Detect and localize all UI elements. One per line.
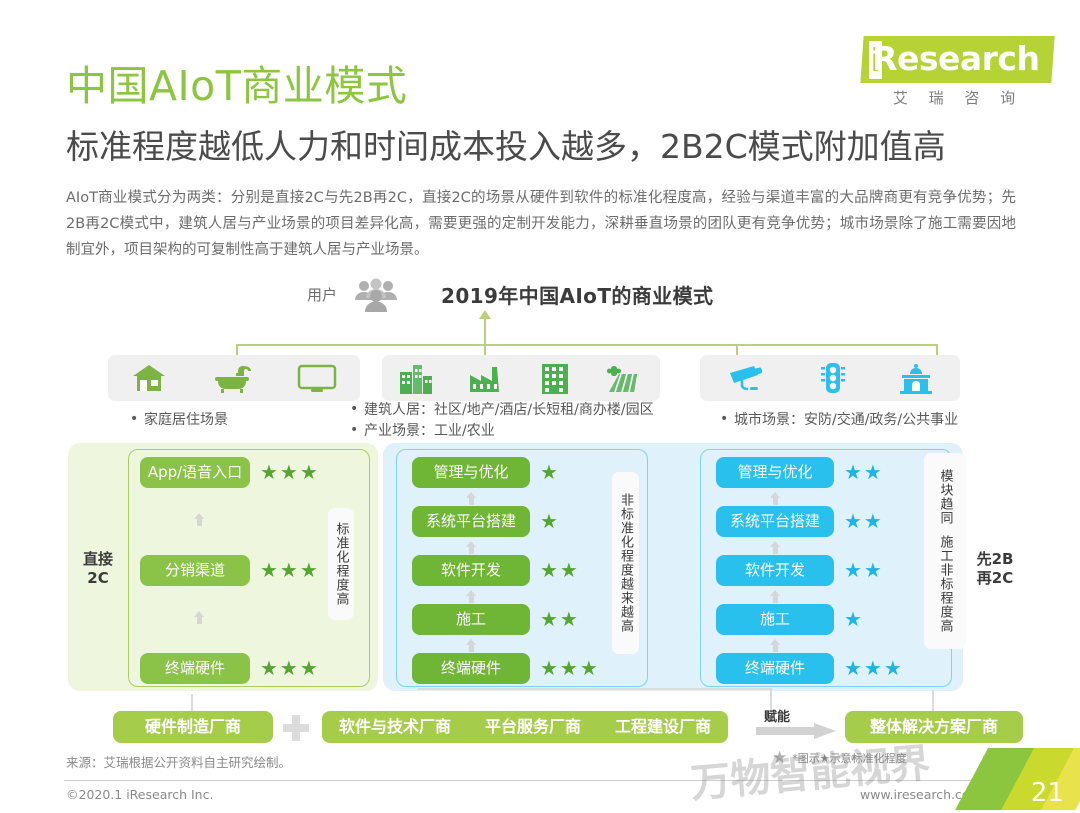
connector-solution-vendor [932, 690, 934, 712]
house-icon [131, 363, 167, 393]
iresearch-logo: i Research 艾 瑞 咨 询 [858, 36, 1058, 108]
star-rating: ★ [540, 463, 560, 483]
vendor-software[interactable]: 软件与技术厂商 [339, 711, 451, 743]
star-rating: ★★ [844, 561, 884, 581]
star-icon: ★ [772, 748, 787, 768]
government-building-icon [898, 362, 934, 394]
row-direct-2c-1[interactable]: App/语音入口 ★★★ [140, 457, 320, 488]
summary-paragraph: AIoT商业模式分为两类：分别是直接2C与先2B再2C，直接2C的场景从硬件到软… [66, 185, 1016, 263]
chip-label[interactable]: App/语音入口 [140, 457, 250, 488]
label-line-2: 再2C [965, 569, 1025, 588]
star-rating: ★★★ [260, 659, 320, 679]
row-direct-2c-2[interactable]: 分销渠道 ★★★ [140, 555, 320, 586]
farmland-icon [605, 362, 643, 394]
row-blue-1[interactable]: 管理与优化 ★★ [716, 457, 884, 488]
tv-icon [297, 363, 337, 393]
chip-label[interactable]: 终端硬件 [140, 653, 250, 684]
logo-mark: i Research [861, 36, 1056, 83]
label-line-1: 先2B [965, 550, 1025, 569]
note-module-convergence: 模块趋同 施工非标程度高 [924, 453, 966, 649]
vendor-middle-group[interactable]: 软件与技术厂商 平台服务厂商 工程建设厂商 [322, 711, 728, 743]
scene-icons-city [700, 355, 960, 401]
list-item: 家庭居住场景 [128, 410, 228, 431]
label-direct-2c: 直接 2C [72, 550, 124, 588]
label-2b-then-2c: 先2B 再2C [965, 550, 1025, 588]
row-blue-3[interactable]: 软件开发 ★★ [716, 555, 884, 586]
flow-arrow-up [770, 492, 781, 505]
chip-label[interactable]: 软件开发 [412, 555, 530, 586]
row-green-2[interactable]: 系统平台搭建 ★ [412, 506, 560, 537]
connector-tree [100, 318, 980, 360]
slide-page: i Research 艾 瑞 咨 询 中国AIoT商业模式 标准程度越低人力和时… [0, 0, 1080, 810]
city-buildings-icon [399, 362, 433, 394]
flow-arrow-up [466, 541, 477, 554]
row-green-3[interactable]: 软件开发 ★★ [412, 555, 580, 586]
flow-arrow-up [466, 639, 477, 652]
legend-note: ★ *图示★示意标准化程度 [772, 748, 907, 768]
chip-label[interactable]: 管理与优化 [412, 457, 530, 488]
scene-bullets-city: 城市场景：安防/交通/政务/公共事业 [718, 410, 958, 431]
page-subtitle: 标准程度越低人力和时间成本投入越多，2B2C模式附加值高 [66, 120, 946, 168]
source-note: 来源：艾瑞根据公开资料自主研究绘制。 [66, 752, 291, 771]
star-rating: ★ [844, 610, 864, 630]
flow-arrow-up [770, 541, 781, 554]
page-number: 21 [1031, 778, 1064, 808]
tree-horizontal-bar [236, 344, 936, 346]
connector-middle-vendors [418, 688, 772, 712]
chip-label[interactable]: 终端硬件 [716, 653, 834, 684]
vendor-total-solution[interactable]: 整体解决方案厂商 [845, 711, 1023, 743]
list-item: 建筑人居：社区/地产/酒店/长短租/商办楼/园区 [348, 400, 654, 421]
note-line-a: 模块趋同 [937, 469, 954, 525]
chip-label[interactable]: 系统平台搭建 [716, 506, 834, 537]
star-rating: ★★★ [260, 561, 320, 581]
scene-icons-home [108, 355, 360, 401]
flow-arrow-up [466, 590, 477, 603]
users-label: 用户 [307, 284, 337, 305]
copyright: ©2020.1 iResearch Inc. [66, 787, 213, 802]
chip-label[interactable]: 终端硬件 [412, 653, 530, 684]
chip-label[interactable]: 分销渠道 [140, 555, 250, 586]
traffic-light-icon [820, 362, 846, 394]
star-rating: ★ [540, 512, 560, 532]
factory-icon [468, 363, 506, 393]
chart-title: 2019年中国AIoT的商业模式 [441, 280, 713, 309]
list-item: 产业场景：工业/农业 [348, 421, 654, 442]
chip-label[interactable]: 软件开发 [716, 555, 834, 586]
note-standardization-high: 标准化程度高 [328, 508, 354, 620]
note-nonstandard-increasing: 非标准化程度越来越高 [612, 472, 639, 654]
row-green-4[interactable]: 施工 ★★ [412, 604, 580, 635]
flow-arrow-up [194, 611, 205, 624]
cctv-camera-icon [726, 363, 768, 393]
bathtub-icon [213, 363, 251, 393]
vendor-hardware[interactable]: 硬件制造厂商 [113, 711, 273, 743]
office-building-icon [540, 362, 570, 394]
star-rating: ★★★ [844, 659, 904, 679]
chip-label[interactable]: 施工 [716, 604, 834, 635]
star-rating: ★★ [844, 512, 884, 532]
star-rating: ★★★ [540, 659, 600, 679]
row-blue-4[interactable]: 施工 ★ [716, 604, 864, 635]
star-rating: ★★ [540, 610, 580, 630]
logo-chinese-name: 艾 瑞 咨 询 [858, 87, 1058, 108]
chip-label[interactable]: 管理与优化 [716, 457, 834, 488]
flow-arrow-up [466, 492, 477, 505]
row-green-5[interactable]: 终端硬件 ★★★ [412, 653, 600, 684]
logo-wordmark: Research [872, 39, 1039, 78]
list-item: 城市场景：安防/交通/政务/公共事业 [718, 410, 958, 431]
enable-arrow-icon [756, 723, 836, 739]
tree-stem [484, 318, 486, 346]
page-title: 中国AIoT商业模式 [66, 52, 407, 112]
chip-label[interactable]: 系统平台搭建 [412, 506, 530, 537]
row-blue-2[interactable]: 系统平台搭建 ★★ [716, 506, 884, 537]
scene-bullets-building: 建筑人居：社区/地产/酒店/长短租/商办楼/园区 产业场景：工业/农业 [348, 400, 654, 442]
users-group-icon [352, 278, 400, 312]
footer-divider [64, 780, 1016, 781]
star-rating: ★★ [540, 561, 580, 581]
star-rating: ★★ [844, 463, 884, 483]
row-green-1[interactable]: 管理与优化 ★ [412, 457, 560, 488]
flow-arrow-up [194, 513, 205, 526]
plus-icon [283, 715, 309, 741]
connector-hardware [191, 694, 193, 712]
legend-text: *图示★示意标准化程度 [792, 750, 906, 766]
row-blue-5[interactable]: 终端硬件 ★★★ [716, 653, 904, 684]
vendor-platform[interactable]: 平台服务厂商 [485, 711, 581, 743]
chip-label[interactable]: 施工 [412, 604, 530, 635]
flow-arrow-up [770, 639, 781, 652]
vendor-engineering[interactable]: 工程建设厂商 [615, 711, 711, 743]
scene-icons-building [382, 355, 660, 401]
scene-bullets-home: 家庭居住场景 [128, 410, 228, 431]
label-line-1: 直接 [72, 550, 124, 569]
flow-arrow-up [770, 590, 781, 603]
row-direct-2c-3[interactable]: 终端硬件 ★★★ [140, 653, 320, 684]
label-line-2: 2C [72, 569, 124, 588]
note-line-b: 施工非标程度高 [937, 535, 954, 633]
star-rating: ★★★ [260, 463, 320, 483]
